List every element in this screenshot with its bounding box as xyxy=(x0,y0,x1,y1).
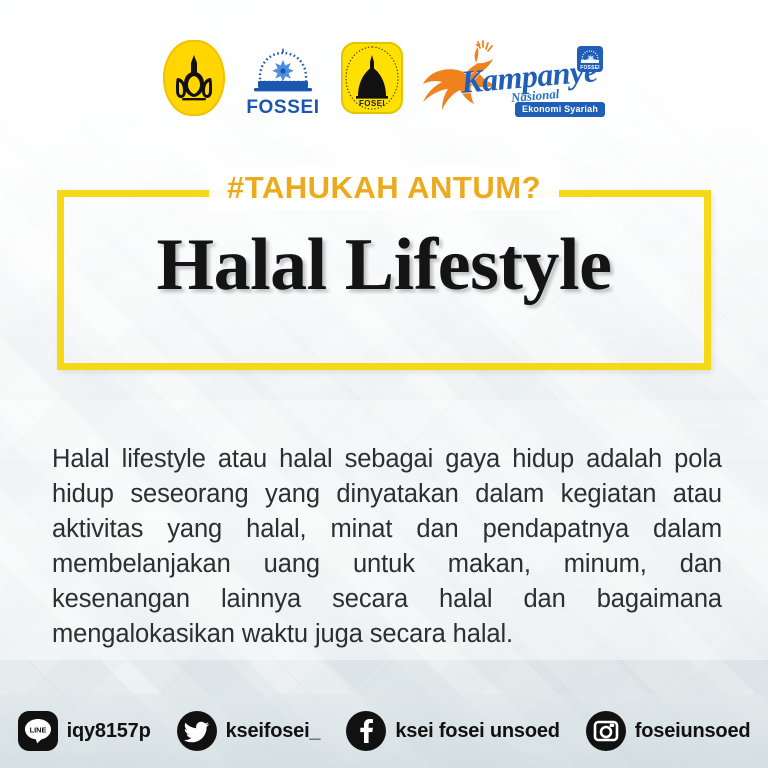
line-icon-glyph: LINE xyxy=(18,711,58,751)
social-handle-line: iqy8157p xyxy=(67,720,151,743)
kampanye-fossei-badge: FOSSEI xyxy=(577,46,603,72)
body-paragraph: Halal lifestyle atau halal sebagai gaya … xyxy=(52,442,722,652)
kampanye-tagline-badge: Ekonomi Syariah xyxy=(515,102,605,117)
social-item-facebook[interactable]: ksei fosei unsoed xyxy=(346,711,559,751)
kicker-container: #TAHUKAH ANTUM? xyxy=(0,166,768,210)
fossei-wordmark: FOSSEI xyxy=(246,98,319,117)
kampanye-nasional-logo: Kampanye Nasional Ekonomi Syariah FOSSEI xyxy=(419,36,605,120)
social-footer: LINE iqy8157p kseifosei_ ksei fosei unso… xyxy=(0,694,768,768)
twitter-icon-glyph xyxy=(177,711,217,751)
social-item-instagram[interactable]: foseiunsoed xyxy=(586,711,751,751)
page-title: Halal Lifestyle xyxy=(57,228,711,302)
fossei-logo-mark xyxy=(250,46,316,96)
unsoed-logo xyxy=(163,40,225,116)
instagram-icon xyxy=(586,711,626,751)
fosei-wordmark: FOSEI xyxy=(341,99,403,108)
instagram-icon-glyph xyxy=(586,711,626,751)
line-icon: LINE xyxy=(18,711,58,751)
logo-strip: FOSSEI FOSEI Kampanye Nasional Ekonomi S… xyxy=(0,36,768,120)
facebook-icon-glyph xyxy=(346,711,386,751)
social-handle-twitter: kseifosei_ xyxy=(226,720,321,743)
unsoed-logo-emblem xyxy=(174,54,214,102)
facebook-icon xyxy=(346,711,386,751)
social-item-line[interactable]: LINE iqy8157p xyxy=(18,711,151,751)
social-handle-facebook: ksei fosei unsoed xyxy=(395,720,559,743)
svg-text:LINE: LINE xyxy=(29,725,46,734)
body-copy: Halal lifestyle atau halal sebagai gaya … xyxy=(52,442,722,652)
social-handle-instagram: foseiunsoed xyxy=(635,720,751,743)
fosei-logo: FOSEI xyxy=(341,42,403,114)
social-item-twitter[interactable]: kseifosei_ xyxy=(177,711,321,751)
fossei-dome-icon xyxy=(250,46,316,96)
kampanye-badge-wordmark: FOSSEI xyxy=(577,65,603,71)
twitter-icon xyxy=(177,711,217,751)
poster-canvas: FOSSEI FOSEI Kampanye Nasional Ekonomi S… xyxy=(0,0,768,768)
fossei-logo: FOSSEI xyxy=(241,39,325,117)
kicker-text: #TAHUKAH ANTUM? xyxy=(209,166,559,210)
